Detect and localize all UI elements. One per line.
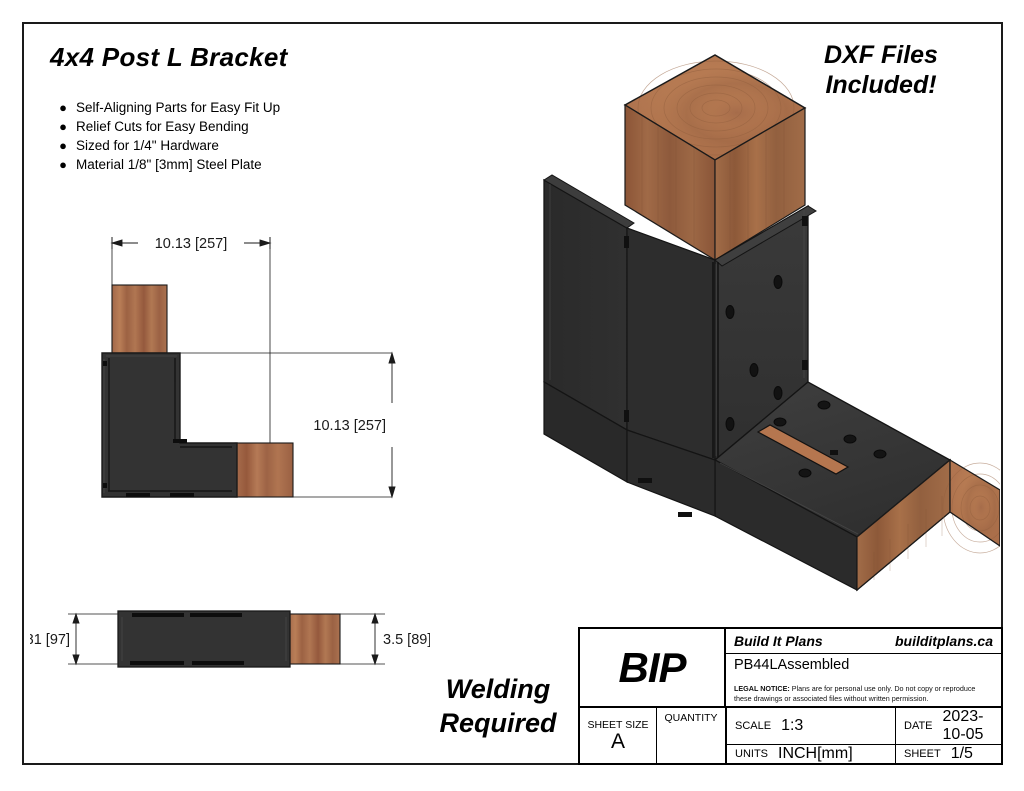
dim-front-width: 10.13 [257] bbox=[155, 236, 228, 252]
date-value: 2023-10-05 bbox=[943, 708, 1001, 744]
list-item: ● Material 1/8" [3mm] Steel Plate bbox=[50, 155, 390, 174]
drawing-sheet: 4x4 Post L Bracket ● Self-Aligning Parts… bbox=[0, 0, 1024, 791]
legal-notice-label: LEGAL NOTICE: bbox=[734, 684, 790, 693]
scale-value: 1:3 bbox=[781, 717, 803, 735]
quantity-label: QUANTITY bbox=[664, 712, 717, 724]
dim-front-height: 10.13 [257] bbox=[313, 418, 386, 434]
side-view-drawing: 3.81 [97] 3.5 [89] bbox=[30, 596, 430, 686]
list-item: ● Sized for 1/4" Hardware bbox=[50, 136, 390, 155]
list-item: ● Relief Cuts for Easy Bending bbox=[50, 117, 390, 136]
part-number: PB44LAssembled bbox=[726, 654, 1001, 673]
title-block-upper: BIP Build It Plans builditplans.ca PB44L… bbox=[580, 629, 1001, 708]
scale-label: SCALE bbox=[735, 720, 771, 732]
title-block-info: Build It Plans builditplans.ca PB44LAsse… bbox=[726, 629, 1001, 706]
spec-row-units-sheet: UNITS INCH[mm] SHEET 1/5 bbox=[727, 745, 1001, 763]
dim-side-height: 3.81 [97] bbox=[30, 632, 70, 648]
bullet-icon: ● bbox=[50, 98, 76, 117]
legal-notice: LEGAL NOTICE: Plans are for personal use… bbox=[726, 684, 1001, 706]
sheet-size-value: A bbox=[611, 731, 625, 753]
website-link[interactable]: builditplans.ca bbox=[895, 633, 993, 649]
date-label: DATE bbox=[904, 720, 933, 732]
welding-note-line-1: Welding bbox=[418, 672, 578, 706]
sheet-value: 1/5 bbox=[951, 745, 973, 763]
units-cell: UNITS INCH[mm] bbox=[727, 745, 896, 763]
title-block-lower: SHEET SIZE A QUANTITY SCALE 1:3 DATE 202… bbox=[580, 708, 1001, 763]
dim-post-size: 3.5 [89] bbox=[383, 632, 430, 648]
sheet-label: SHEET bbox=[904, 748, 941, 760]
sheet-cell: SHEET 1/5 bbox=[896, 745, 1001, 763]
spec-row-scale-date: SCALE 1:3 DATE 2023-10-05 bbox=[727, 708, 1001, 745]
feature-text: Material 1/8" [3mm] Steel Plate bbox=[76, 155, 390, 174]
front-view-steel-bracket bbox=[102, 353, 237, 497]
front-view-drawing: 10.13 [257] 10.13 [257] bbox=[30, 225, 450, 515]
side-view-wood bbox=[288, 614, 340, 664]
side-view-steel bbox=[118, 611, 290, 667]
list-item: ● Self-Aligning Parts for Easy Fit Up bbox=[50, 98, 390, 117]
sheet-size-label: SHEET SIZE bbox=[587, 719, 648, 731]
bullet-icon: ● bbox=[50, 117, 76, 136]
date-cell: DATE 2023-10-05 bbox=[896, 708, 1001, 744]
feature-text: Sized for 1/4" Hardware bbox=[76, 136, 390, 155]
quantity-cell: QUANTITY bbox=[657, 708, 727, 763]
welding-note-line-2: Required bbox=[418, 706, 578, 740]
welding-required-note: Welding Required bbox=[418, 672, 578, 740]
bip-logo: BIP bbox=[618, 644, 685, 692]
company-name: Build It Plans bbox=[734, 633, 823, 649]
feature-text: Relief Cuts for Easy Bending bbox=[76, 117, 390, 136]
units-label: UNITS bbox=[735, 748, 768, 760]
isometric-assembly-view bbox=[530, 30, 1000, 620]
spec-grid: SCALE 1:3 DATE 2023-10-05 UNITS INCH[mm]… bbox=[727, 708, 1001, 763]
sheet-size-cell: SHEET SIZE A bbox=[580, 708, 657, 763]
brand-row: Build It Plans builditplans.ca bbox=[726, 629, 1001, 654]
front-view-post-wood bbox=[112, 285, 167, 353]
feature-list: ● Self-Aligning Parts for Easy Fit Up ● … bbox=[50, 98, 390, 174]
logo-cell: BIP bbox=[580, 629, 726, 706]
front-view-beam-wood bbox=[235, 443, 293, 497]
bullet-icon: ● bbox=[50, 155, 76, 174]
title-block: BIP Build It Plans builditplans.ca PB44L… bbox=[578, 627, 1003, 765]
page-title: 4x4 Post L Bracket bbox=[50, 42, 288, 73]
feature-text: Self-Aligning Parts for Easy Fit Up bbox=[76, 98, 390, 117]
bullet-icon: ● bbox=[50, 136, 76, 155]
scale-cell: SCALE 1:3 bbox=[727, 708, 896, 744]
units-value: INCH[mm] bbox=[778, 745, 853, 763]
